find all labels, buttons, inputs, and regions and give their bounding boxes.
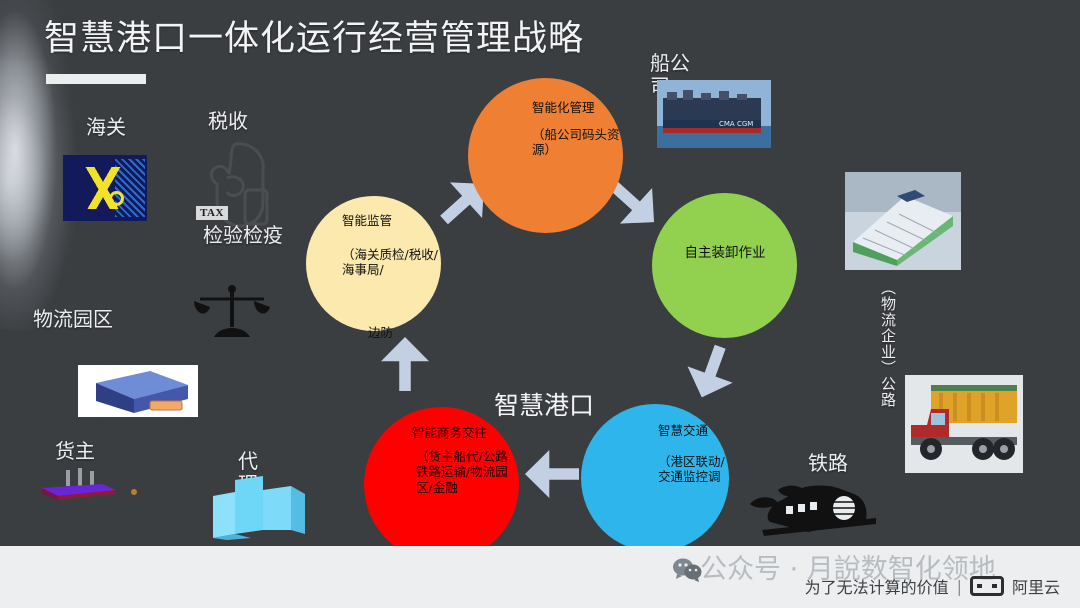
circle-intelligent-supervision-text: 智能监管 （海关质检/税收/海事局/ (342, 213, 446, 278)
train-silhouette-icon (748, 482, 882, 542)
tax-badge: TAX (196, 206, 228, 220)
circle-detail: （货主船代/公路铁路运输/物流园区/金融 (416, 449, 514, 496)
footer-separator: | (957, 577, 962, 596)
page-title: 智慧港口一体化运行经营管理战略 (44, 10, 584, 61)
circle-heading: 智慧交通 (658, 423, 732, 439)
customs-emblem-icon (63, 155, 147, 221)
circle-detail: （港区联动/交通监控调 (658, 454, 732, 485)
label-railway: 铁路 (808, 452, 864, 475)
circle-heading: 智能商务交往 (412, 425, 514, 441)
circle-detail: （海关质检/税收/海事局/ (342, 247, 446, 278)
warehouse-illustration (845, 172, 961, 270)
circle-autonomous-loading[interactable] (652, 193, 797, 338)
label-logistics-enterprise-road: （物流企业）公路 (874, 280, 896, 408)
center-label-smart-port: 智慧港口 (494, 386, 594, 422)
circle-detail: （船公司码头资源） (532, 127, 632, 158)
circle-intelligent-supervision-overflow: 边防 (368, 325, 408, 341)
title-underline-rule (46, 74, 146, 84)
logistics-park-illustration (78, 365, 198, 417)
circle-autonomous-loading-text: 自主装卸作业 (661, 245, 789, 262)
circle-heading: 智能监管 (342, 213, 446, 229)
circle-smart-transport-text: 智慧交通 （港区联动/交通监控调 (658, 423, 732, 485)
label-tax: 税收 (208, 110, 248, 133)
circle-heading: 智能化管理 (532, 100, 632, 116)
label-logistics-park: 物流园区 (33, 308, 115, 331)
svg-text:CMA CGM: CMA CGM (719, 120, 753, 128)
circle-intelligent-business-text: 智能商务交往 （货主船代/公路铁路运输/物流园区/金融 (412, 425, 514, 496)
label-cargo-owner: 货主 (55, 440, 115, 463)
wechat-icon (672, 557, 702, 582)
circle-intelligent-management-text: 智能化管理 （船公司码头资源） (532, 100, 632, 158)
label-customs: 海关 (86, 116, 132, 139)
factory-illustration (38, 468, 150, 502)
arrow-transport-to-business (525, 450, 579, 498)
label-inspection-quarantine: 检验检疫 (203, 224, 293, 247)
container-ship-photo: CMA CGM (657, 80, 771, 148)
arrow-business-to-supervision (381, 337, 429, 391)
footer-brand: 阿里云 (1012, 574, 1060, 598)
container-truck-photo (905, 375, 1023, 473)
slide-canvas: 智慧港口一体化运行经营管理战略 智能化管理 （船公司码头资源） 智能监管 （海关… (0, 0, 1080, 608)
balance-scales-icon (192, 285, 272, 341)
footer-tagline: 为了无法计算的价值 (805, 574, 949, 598)
buildings-illustration (205, 472, 311, 540)
circle-heading: 自主装卸作业 (661, 245, 789, 262)
footer-brand-line: 为了无法计算的价值 | 阿里云 (805, 574, 1060, 598)
aliyun-logo-icon (970, 576, 1004, 596)
arrow-loading-to-transport (679, 338, 743, 405)
